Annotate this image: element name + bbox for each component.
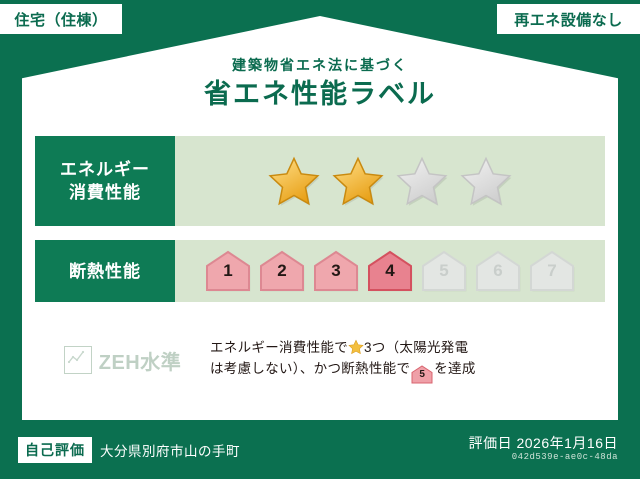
- zeh-desc-part4: を達成: [434, 361, 475, 376]
- star-filled-icon: [331, 155, 385, 207]
- insulation-level-inline-icon: 5: [411, 365, 433, 383]
- star-filled-icon: [267, 155, 321, 207]
- label-footer: 自己評価 大分県別府市山の手町 評価日 2026年1月16日 042d539e-…: [0, 424, 640, 479]
- insulation-level-5: 5: [420, 249, 468, 293]
- insulation-level-number: 5: [439, 238, 448, 293]
- energy-performance-label-box: エネルギー 消費性能: [35, 136, 175, 226]
- evaluation-date: 評価日 2026年1月16日: [469, 433, 618, 453]
- zeh-note-row: ZEH水準 エネルギー消費性能で3つ（太陽光発電は考慮しない）、かつ断熱性能で5…: [35, 330, 605, 390]
- star-empty-icon: [395, 155, 449, 207]
- insulation-level-1: 1: [204, 249, 252, 293]
- building-type-chip-label: 住宅（住棟）: [14, 9, 107, 30]
- insulation-level-number: 7: [547, 238, 556, 293]
- self-evaluation-chip: 自己評価: [18, 437, 92, 463]
- insulation-performance-row: 断熱性能 1234567: [35, 240, 605, 302]
- property-address: 大分県別府市山の手町: [100, 440, 240, 460]
- label-title-block: 建築物省エネ法に基づく 省エネ性能ラベル: [0, 56, 640, 111]
- renewable-equipment-chip-label: 再エネ設備なし: [514, 9, 623, 30]
- zeh-badge-label: ZEH水準: [99, 346, 182, 375]
- evaluation-id: 042d539e-ae0c-48da: [512, 452, 618, 462]
- insulation-level-number: 6: [493, 238, 502, 293]
- zeh-description: エネルギー消費性能で3つ（太陽光発電は考慮しない）、かつ断熱性能で5を達成: [210, 337, 605, 383]
- building-type-chip: 住宅（住棟）: [0, 4, 122, 34]
- insulation-label-line1: 断熱性能: [69, 260, 141, 283]
- star-empty-icon: [459, 155, 513, 207]
- insulation-level-7: 7: [528, 249, 576, 293]
- energy-performance-row: エネルギー 消費性能: [35, 136, 605, 226]
- zeh-check-icon: [64, 346, 92, 374]
- zeh-desc-part2: 3つ（太陽光発電: [364, 340, 468, 355]
- energy-label-line2: 消費性能: [69, 181, 141, 204]
- insulation-level-4: 4: [366, 249, 414, 293]
- energy-star-rating: [175, 136, 605, 226]
- insulation-level-number: 3: [331, 238, 340, 293]
- insulation-level-number: 4: [385, 238, 394, 293]
- energy-performance-label: 住宅（住棟） 再エネ設備なし 建築物省エネ法に基づく 省エネ性能ラベル エネルギ…: [0, 0, 640, 479]
- insulation-level-3: 3: [312, 249, 360, 293]
- insulation-level-2: 2: [258, 249, 306, 293]
- insulation-performance-label-box: 断熱性能: [35, 240, 175, 302]
- zeh-badge: ZEH水準: [35, 346, 210, 375]
- zeh-desc-part1: エネルギー消費性能で: [210, 340, 348, 355]
- zeh-desc-part3: は考慮しない）、かつ断熱性能で: [210, 361, 410, 376]
- label-subtitle: 建築物省エネ法に基づく: [0, 56, 640, 74]
- insulation-level-6: 6: [474, 249, 522, 293]
- insulation-level-scale: 1234567: [175, 240, 605, 302]
- renewable-equipment-chip: 再エネ設備なし: [497, 4, 640, 34]
- energy-label-line1: エネルギー: [60, 158, 150, 181]
- insulation-level-number: 1: [223, 238, 232, 293]
- insulation-level-number: 2: [277, 238, 286, 293]
- star-icon: [348, 339, 364, 355]
- inline-house-level: 5: [411, 365, 433, 385]
- label-title: 省エネ性能ラベル: [0, 77, 640, 111]
